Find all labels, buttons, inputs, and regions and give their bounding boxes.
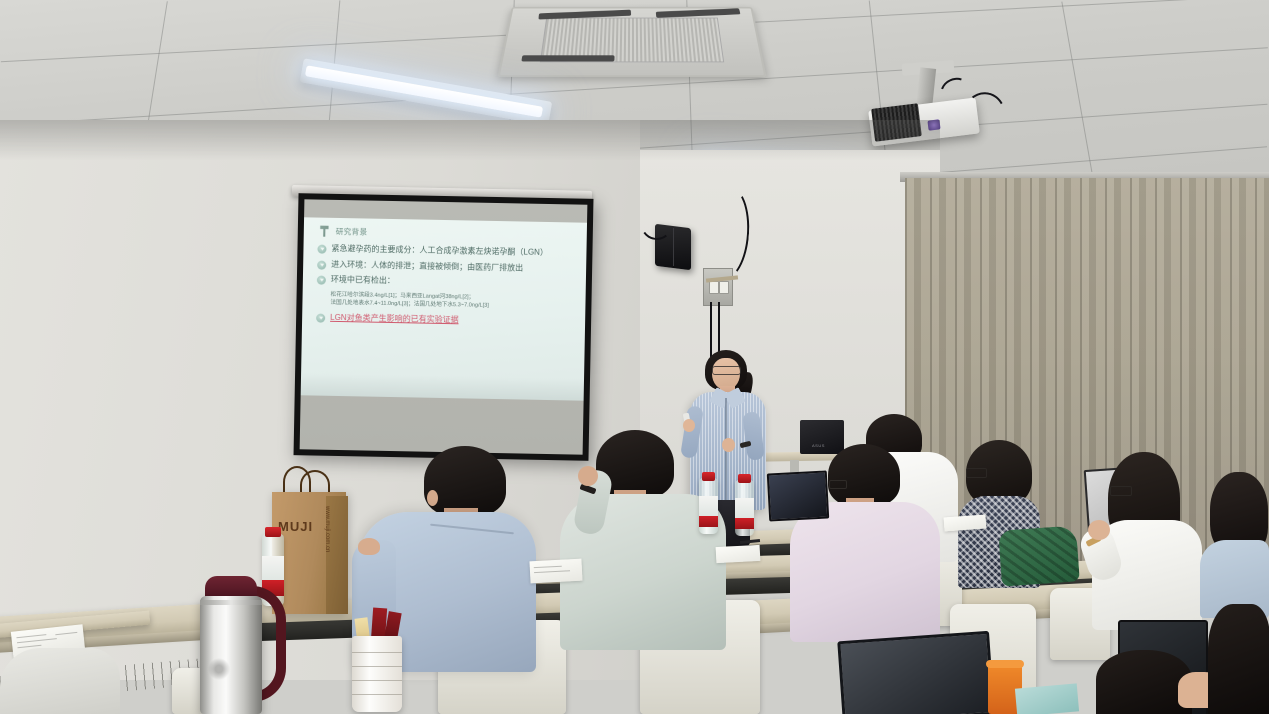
bottle-cap [265,527,281,537]
projection-screen: 研究背景 紧急避孕药的主要成分：人工合成孕激素左炔诺孕酮（LGN） 进入环境：人… [294,193,594,461]
monitor[interactable] [800,420,844,454]
bottle-label-band [699,516,718,527]
slide-title: 研究背景 [336,226,368,238]
speaker-seam [673,228,674,266]
bullet-text-highlighted: LGN对鱼类产生影响的已有实验证据 [330,312,459,324]
cup-rim-line [352,680,402,681]
cup-rim-line [352,694,402,695]
paper-document-notes[interactable] [716,545,761,563]
air-conditioner-vent-icon [497,7,766,77]
stainless-steel-thermos[interactable] [200,596,262,714]
paper-text-line [17,638,57,643]
presenter-left-hand [683,419,695,432]
slide-bullet-3: 环境中已有检出： [317,275,576,290]
glasses-icon [966,468,987,478]
ac-side-vent [656,8,741,18]
muji-url-label: www.muji.com.cn [324,506,330,552]
paper-text-line [16,634,46,638]
attendee-ear [427,490,438,506]
attendee-shirt [790,502,940,642]
bullet-text: 进入环境：人体的排泄；直接被倾倒；由医药厂排放出 [331,259,523,273]
screen-surface: 研究背景 紧急避孕药的主要成分：人工合成孕激素左炔诺孕酮（LGN） 进入环境：人… [300,199,588,454]
monitor-brand-label: ASUS [812,443,825,448]
play-bullet-icon [317,260,326,269]
bottle-cap [702,472,715,481]
attendee-hair [424,446,506,516]
wall-socket[interactable] [719,281,729,294]
paper-document-podium[interactable] [944,515,987,532]
play-bullet-icon [317,245,326,254]
attendee-hand [358,538,380,555]
slide-content: 研究背景 紧急避孕药的主要成分：人工合成孕激素左炔诺孕酮（LGN） 进入环境：人… [301,217,587,400]
wall-socket[interactable] [709,281,719,294]
play-bullet-icon [317,276,326,285]
attendee-hand [1088,520,1110,540]
glasses-icon [829,480,847,489]
bullet-text: 环境中已有检出： [331,275,395,286]
ac-side-vent [521,55,614,61]
attendee-hand [578,466,598,486]
laptop-foreground-left[interactable] [837,631,994,714]
glasses-icon [1110,486,1132,496]
bottle-label [262,556,284,582]
paper-text-line [534,566,562,568]
play-bullet-icon [316,313,325,322]
bottle-label [699,496,718,516]
slide-bullet-list: 紧急避孕药的主要成分：人工合成孕激素左炔诺孕酮（LGN） 进入环境：人体的排泄；… [302,237,587,327]
wall-ceiling-shadow [0,120,940,160]
cup-rim-line [352,652,402,653]
glasses-icon [712,366,741,375]
paper-text-line [55,632,77,635]
conference-room-screenshot: 研究背景 紧急避孕药的主要成分：人工合成孕激素左炔诺孕酮（LGN） 进入环境：人… [0,0,1269,714]
paper-document-handout[interactable] [529,559,582,584]
paper-cup-stack[interactable] [352,636,402,712]
thermos-collar [200,600,262,605]
slide-bullet-1: 紧急避孕药的主要成分：人工合成孕激素左炔诺孕酮（LGN） [317,244,576,259]
foreground-attendee-shoulder [0,648,120,714]
foreground-attendee-head [1208,604,1269,714]
slide-bullet-2: 进入环境：人体的排泄；直接被倾倒；由医药厂排放出 [317,259,576,274]
bullet-text: 紧急避孕药的主要成分：人工合成孕激素左炔诺孕酮（LGN） [331,244,548,258]
paper-text-line [534,570,570,573]
company-logo-icon [318,225,331,238]
slide-bottom-fade [301,373,584,400]
thermos-logo-icon [206,656,232,682]
green-camouflage-bag[interactable] [998,525,1080,586]
bottle-label [735,498,754,518]
slide-bullet-4: LGN对鱼类产生影响的已有实验证据 [316,312,575,327]
presenter-right-hand [722,438,735,452]
attendee-hair [828,444,900,506]
orange-tumbler-lid [986,660,1024,668]
bottle-cap [738,474,751,483]
laptop-attendee-right[interactable] [767,470,829,521]
teal-notebook[interactable] [1015,683,1079,714]
cup-rim-line [352,666,402,667]
presenter-button-placket [725,398,727,506]
bottle-label-band [735,518,754,529]
